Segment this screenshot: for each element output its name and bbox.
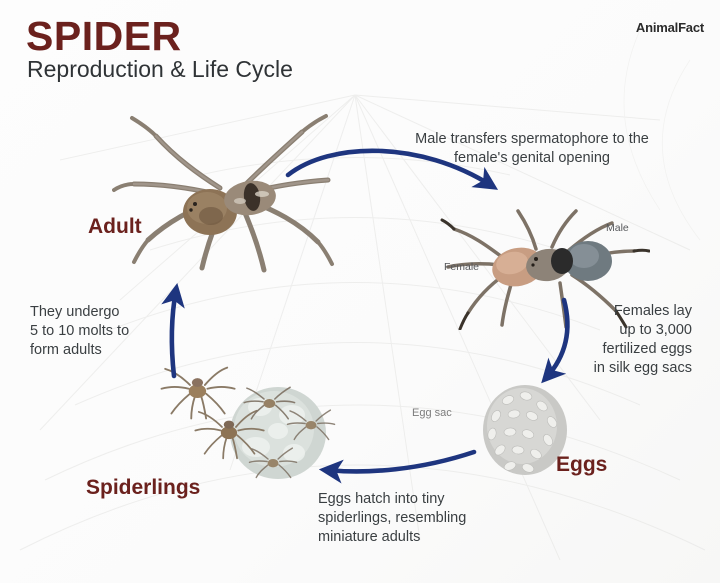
- callout-label-female: Female: [444, 261, 479, 273]
- stage-label-adult: Adult: [88, 215, 142, 239]
- brand-logo-text: AnimalFact: [636, 20, 704, 35]
- stage-label-eggs: Eggs: [556, 453, 607, 477]
- arrow-spiderlings-to-adult: [172, 290, 176, 376]
- transition-text-adult-to-mating: Male transfers spermatophore to the fema…: [382, 130, 682, 168]
- callout-label-egg-sac: Egg sac: [412, 407, 452, 419]
- page-title: SPIDER: [26, 16, 182, 57]
- transition-text-mating-to-eggs: Females lay up to 3,000 fertilized eggs …: [556, 302, 692, 379]
- transition-text-spiderlings-to-adult: They undergo 5 to 10 molts to form adult…: [30, 303, 170, 360]
- brand-logo: AnimalFact: [636, 20, 704, 35]
- stage-label-spiderlings: Spiderlings: [86, 476, 200, 500]
- transition-text-eggs-to-spiderlings: Eggs hatch into tiny spiderlings, resemb…: [318, 490, 548, 547]
- adult-spider-image: [112, 100, 342, 275]
- page-subtitle: Reproduction & Life Cycle: [27, 58, 293, 81]
- infographic-canvas: SPIDER Reproduction & Life Cycle AnimalF…: [0, 0, 720, 583]
- callout-label-male: Male: [606, 222, 629, 234]
- arrow-eggs-to-spiderlings: [326, 452, 474, 471]
- spiderlings-image: [160, 355, 345, 485]
